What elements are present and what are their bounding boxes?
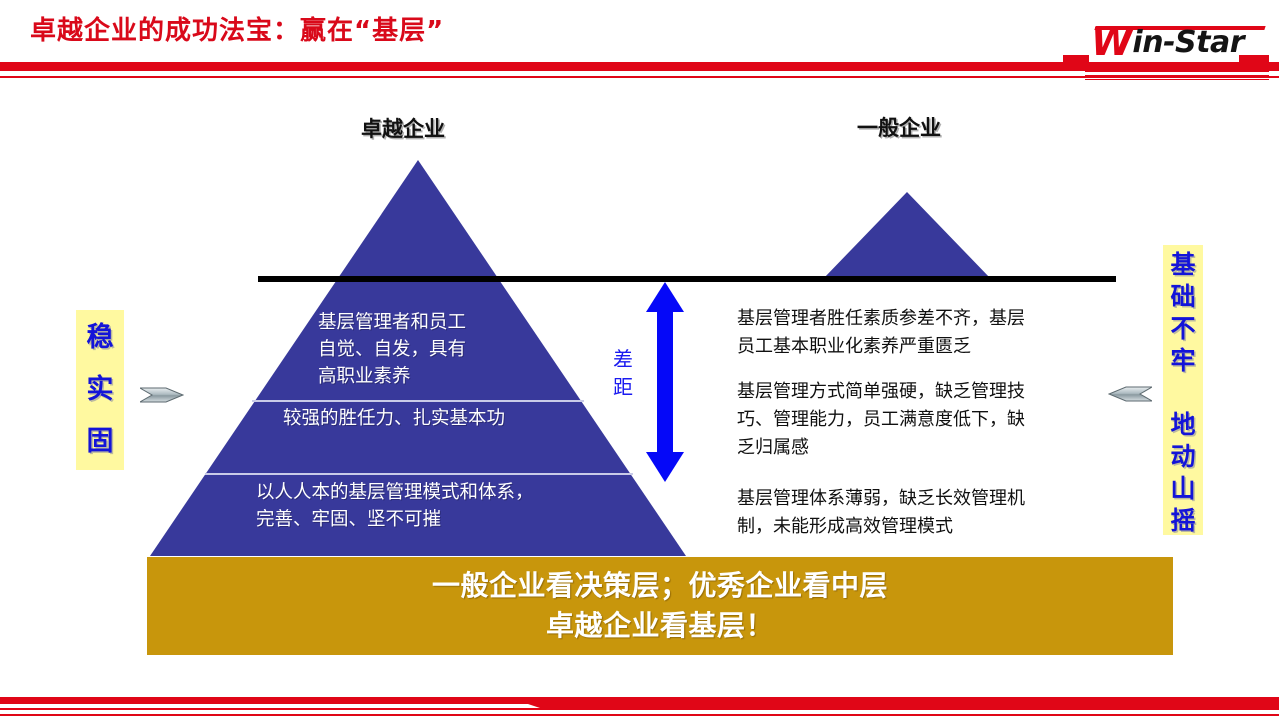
heading-ordinary-enterprise: 一般企业 (857, 112, 941, 142)
right-point-2: 基层管理方式简单强硬，缺乏管理技 巧、管理能力，员工满意度低下，缺 乏归属感 (737, 378, 1112, 462)
arrow-shaft (657, 308, 673, 456)
brand-logo: Win-Star (1063, 26, 1269, 82)
slide-canvas: 卓越企业的成功法宝：赢在“基层” Win-Star 卓越企业 一般企业 基层管理… (0, 0, 1279, 720)
pyramid-ordinary (823, 192, 991, 279)
logo-bar-left (1063, 55, 1089, 64)
pyramid-level-2-text: 较强的胜任力、扎实基本功 (283, 405, 505, 432)
logo-underline-2 (1085, 75, 1269, 76)
right-point-3: 基层管理体系薄弱，缺乏长效管理机 制，未能形成高效管理模式 (737, 485, 1112, 541)
logo-underline-3 (1085, 79, 1269, 80)
footer-rule-thick (0, 697, 1279, 710)
comparison-baseline (258, 276, 1116, 282)
pyramid-divider-top (252, 400, 584, 402)
arrow-head-down (646, 452, 684, 482)
page-title: 卓越企业的成功法宝：赢在“基层” (30, 10, 444, 47)
footer-diagonal-cut (0, 704, 540, 708)
gap-label: 差 距 (610, 345, 636, 401)
callout-box-right: 基 础 不 牢 地 动 山 摇 (1163, 245, 1203, 535)
logo-initial: W (1091, 20, 1132, 64)
pyramid-divider-bottom (205, 473, 633, 475)
heading-excellent-enterprise: 卓越企业 (361, 113, 445, 143)
logo-wordmark: Win-Star (1091, 24, 1244, 60)
footer-rule-thin (0, 714, 1279, 716)
right-point-1: 基层管理者胜任素质参差不齐，基层 员工基本职业化素养严重匮乏 (737, 305, 1112, 361)
conclusion-banner: 一般企业看决策层；优秀企业看中层 卓越企业看基层！ (147, 557, 1173, 655)
logo-rest: in-Star (1132, 25, 1244, 60)
chevron-right-icon (140, 384, 184, 406)
logo-underline-1 (1085, 71, 1269, 72)
callout-box-left: 稳 实 固 (76, 310, 124, 470)
gap-double-arrow-icon (646, 282, 684, 482)
conclusion-banner-text: 一般企业看决策层；优秀企业看中层 卓越企业看基层！ (432, 566, 888, 646)
pyramid-level-3-text: 以人人本的基层管理模式和体系， 完善、牢固、坚不可摧 (256, 479, 534, 533)
chevron-left-icon (1108, 383, 1152, 405)
pyramid-level-1-text: 基层管理者和员工 自觉、自发，具有 高职业素养 (318, 309, 466, 390)
